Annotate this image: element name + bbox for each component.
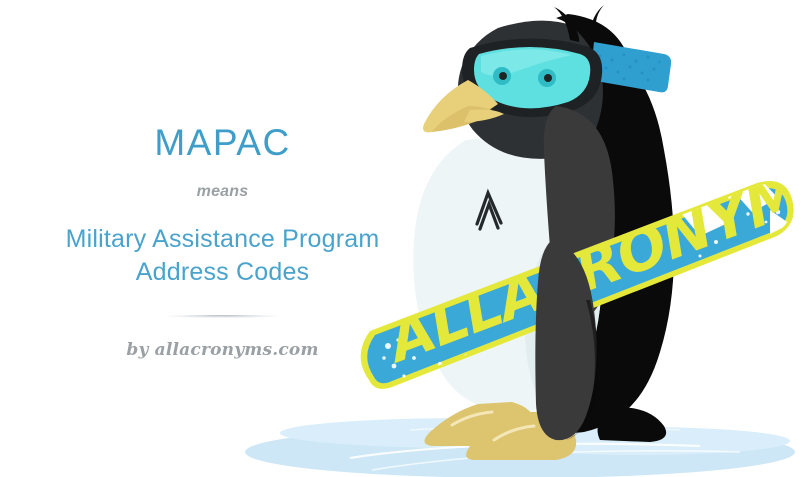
site-byline: by allacronyms.com: [126, 340, 318, 360]
acronym-title: MAPAC: [154, 124, 290, 161]
acronym-definition-image: ALLACRONYMS MAPAC means Military Assista…: [0, 0, 801, 477]
means-connector: means: [197, 183, 249, 201]
acronym-expansion: Military Assistance Program Address Code…: [33, 223, 413, 289]
divider: [164, 315, 282, 318]
far-foot: [598, 407, 667, 442]
definition-text-block: MAPAC means Military Assistance Program …: [0, 0, 445, 477]
